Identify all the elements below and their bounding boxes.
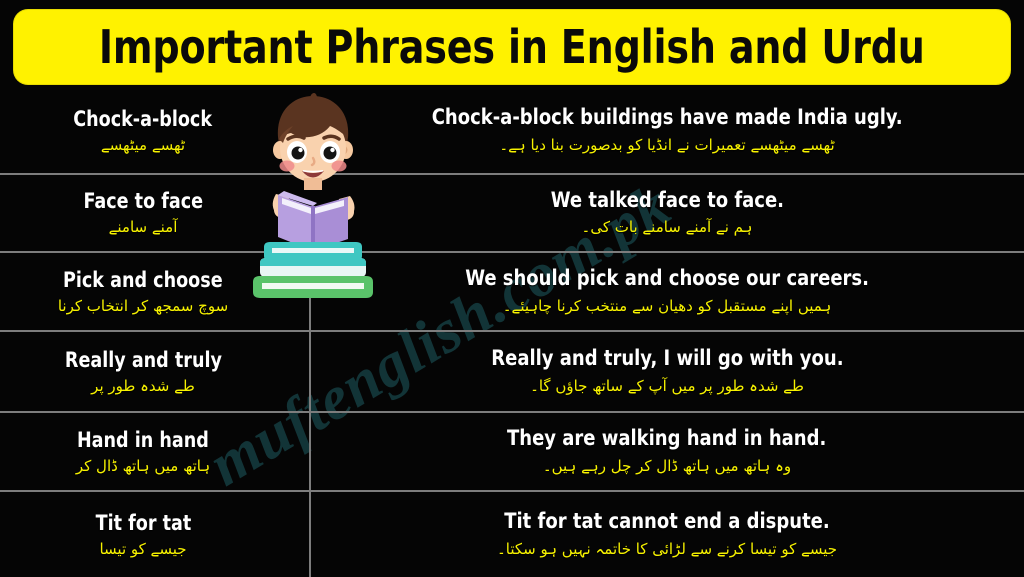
phrase-cell: Face to face آمنے سامنے [0,175,310,251]
phrase-urdu: سوچ سمجھ کر انتخاب کرنا [58,297,228,316]
sentence-english: They are walking hand in hand. [507,427,826,452]
phrase-cell: Tit for tat جیسے کو تیسا [0,492,310,577]
sentence-cell: We talked face to face. ہم نے آمنے سامنے… [310,175,1024,251]
phrase-urdu: جیسے کو تیسا [99,540,186,559]
table-row: Pick and choose سوچ سمجھ کر انتخاب کرنا … [0,253,1024,332]
phrase-urdu: ٹھسے میٹھسے [101,136,185,155]
phrase-english: Face to face [83,189,203,213]
phrase-english: Hand in hand [77,428,209,452]
sentence-english: Chock-a-block buildings have made India … [432,106,903,131]
phrase-cell: Hand in hand ہاتھ میں ہاتھ ڈال کر [0,413,310,490]
phrase-english: Really and truly [64,348,221,372]
table-row: Really and truly طے شدہ طور پر Really an… [0,332,1024,413]
phrase-english: Pick and choose [63,268,223,292]
sentence-urdu: وہ ہاتھ میں ہاتھ ڈال کر چل رہے ہیں۔ [543,457,791,476]
sentence-english: Tit for tat cannot end a dispute. [504,510,829,535]
sentence-urdu: جیسے کو تیسا کرنے سے لڑائی کا خاتمہ نہیں… [497,540,837,559]
phrase-table: Chock-a-block ٹھسے میٹھسے Chock-a-block … [0,88,1024,577]
phrase-cell: Really and truly طے شدہ طور پر [0,332,310,411]
sentence-cell: They are walking hand in hand. وہ ہاتھ م… [310,413,1024,490]
sentence-english: Really and truly, I will go with you. [491,347,843,372]
phrase-urdu: طے شدہ طور پر [91,377,195,396]
sentence-english: We talked face to face. [550,189,783,214]
sentence-urdu: طے شدہ طور پر میں آپ کے ساتھ جاؤں گا۔ [530,377,804,396]
page-title: Important Phrases in English and Urdu [99,24,925,70]
title-banner: Important Phrases in English and Urdu [14,10,1010,84]
phrase-cell: Pick and choose سوچ سمجھ کر انتخاب کرنا [0,253,310,330]
table-row: Hand in hand ہاتھ میں ہاتھ ڈال کر They a… [0,413,1024,492]
column-divider [309,265,311,577]
phrase-urdu: ہاتھ میں ہاتھ ڈال کر [76,457,210,476]
sentence-urdu: ہمیں اپنے مستقبل کو دھیان سے منتخب کرنا … [503,297,832,316]
table-row: Chock-a-block ٹھسے میٹھسے Chock-a-block … [0,88,1024,175]
table-row: Tit for tat جیسے کو تیسا Tit for tat can… [0,492,1024,577]
table-row: Face to face آمنے سامنے We talked face t… [0,175,1024,253]
phrase-english: Chock-a-block [74,107,213,131]
sentence-english: We should pick and choose our careers. [465,267,869,292]
sentence-cell: Really and truly, I will go with you. طے… [310,332,1024,411]
sentence-cell: Tit for tat cannot end a dispute. جیسے ک… [310,492,1024,577]
sentence-urdu: ہم نے آمنے سامنے بات کی۔ [582,218,753,237]
phrase-urdu: آمنے سامنے [109,218,178,237]
phrase-cell: Chock-a-block ٹھسے میٹھسے [0,88,310,173]
sentence-cell: We should pick and choose our careers. ہ… [310,253,1024,330]
sentence-urdu: ٹھسے میٹھسے تعمیرات نے انڈیا کو بدصورت ب… [499,136,834,155]
sentence-cell: Chock-a-block buildings have made India … [310,88,1024,173]
phrase-english: Tit for tat [95,511,191,535]
